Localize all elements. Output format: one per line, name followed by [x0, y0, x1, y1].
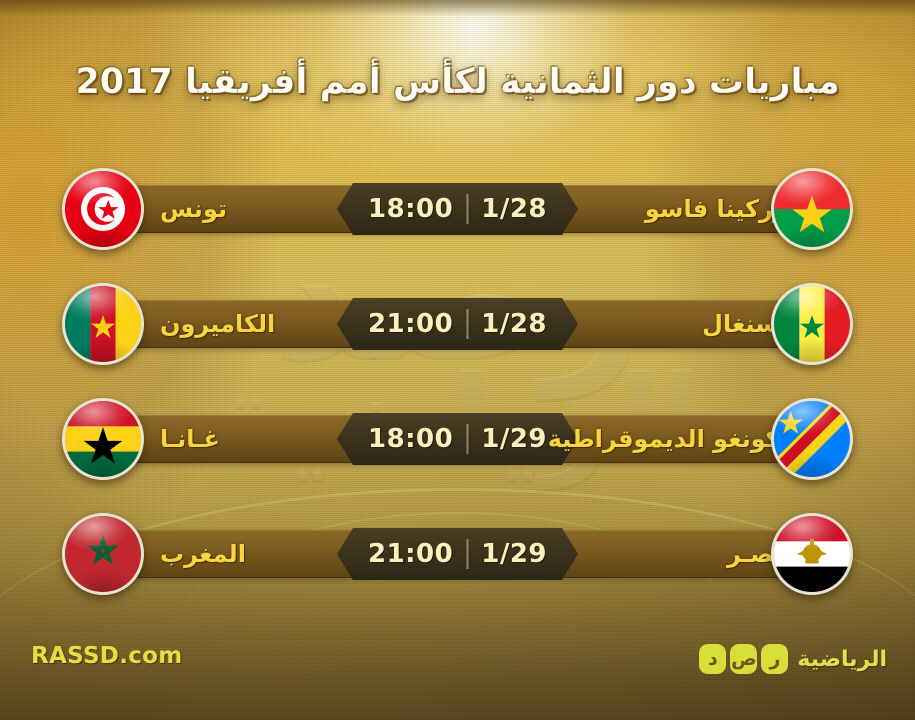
match-time: 21:00 — [355, 539, 466, 569]
match-row[interactable]: تونس 18:00 1/28 بوركينا فاسو — [0, 160, 915, 275]
match-time-date-badge: 18:00 1/29 — [337, 413, 578, 465]
team-name-left: المغرب — [160, 530, 246, 578]
match-date: 1/29 — [468, 539, 560, 569]
site-url[interactable]: RASSD.com — [31, 643, 183, 669]
match-row[interactable]: المغرب 21:00 1/29 مـصـر — [0, 505, 915, 620]
morocco-flag — [62, 513, 144, 595]
cameroon-flag — [62, 283, 144, 365]
team-name-left: الكاميرون — [160, 300, 275, 348]
match-date: 1/29 — [468, 424, 560, 454]
match-time-date-badge: 18:00 1/28 — [337, 183, 578, 235]
egypt-flag — [771, 513, 853, 595]
match-time: 18:00 — [355, 194, 466, 224]
team-name-left: تونس — [160, 185, 227, 233]
match-date: 1/28 — [468, 194, 560, 224]
top-shade — [0, 0, 915, 16]
match-row[interactable]: الكاميرون 21:00 1/28 السنغال — [0, 275, 915, 390]
brand-logo-mark: ر ص د — [699, 644, 788, 674]
match-row[interactable]: غـانـا 18:00 1/29 الكونغو الديموقراطية — [0, 390, 915, 505]
match-time-date-badge: 21:00 1/28 — [337, 298, 578, 350]
match-time: 18:00 — [355, 424, 466, 454]
team-name-right: الكونغو الديموقراطية — [548, 415, 797, 463]
page-title: مباريات دور الثمانية لكأس أمم أفريقيا 20… — [0, 62, 915, 102]
dr-congo-flag — [771, 398, 853, 480]
poster-root: رصد الرياضية مباريات دور الثمانية لكأس أ… — [0, 0, 915, 720]
brand-logo-word: الرياضية — [797, 647, 887, 672]
logo-letter-dal: د — [699, 644, 726, 674]
tunisia-flag — [62, 168, 144, 250]
logo-letter-sad: ص — [730, 644, 757, 674]
match-time: 21:00 — [355, 309, 466, 339]
match-list: تونس 18:00 1/28 بوركينا فاسو — [0, 160, 915, 620]
match-date: 1/28 — [468, 309, 560, 339]
burkina-faso-flag — [771, 168, 853, 250]
ghana-flag — [62, 398, 144, 480]
logo-letter-ra: ر — [761, 644, 788, 674]
senegal-flag — [771, 283, 853, 365]
team-name-left: غـانـا — [160, 415, 220, 463]
brand-logo[interactable]: الرياضية ر ص د — [699, 644, 887, 674]
match-time-date-badge: 21:00 1/29 — [337, 528, 578, 580]
